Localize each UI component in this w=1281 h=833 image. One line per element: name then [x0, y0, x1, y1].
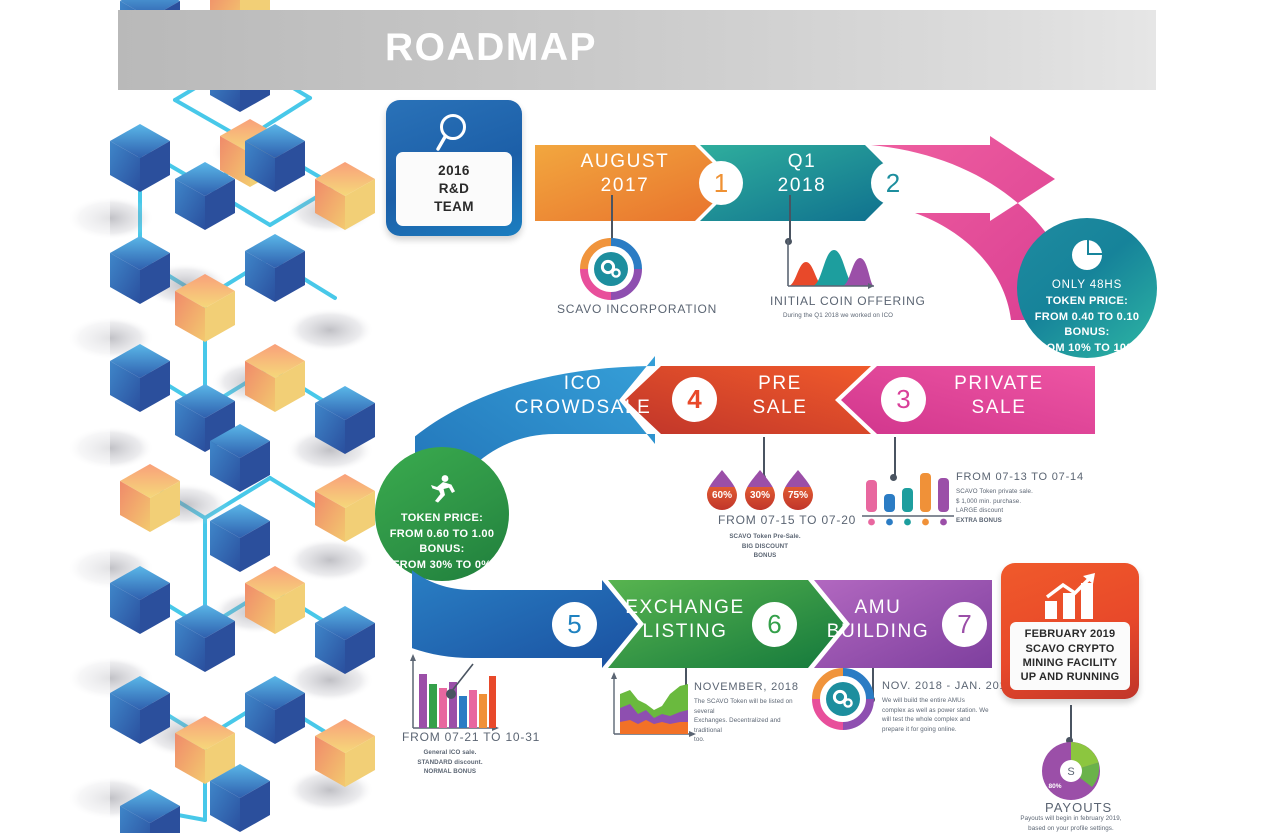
teal-badge-line3: BONUS: [1064, 325, 1109, 341]
teal-badge-line1: TOKEN PRICE: [1046, 294, 1128, 310]
green-badge-line2: FROM 0.60 TO 1.00 [390, 527, 495, 543]
payouts-connector [1070, 705, 1072, 741]
end-card-line4: UP AND RUNNING [1021, 670, 1120, 684]
green-badge-line1: TOKEN PRICE: [401, 511, 483, 527]
step-6-node-desc: The SCAVO Token will be listed on severa… [694, 697, 806, 745]
step-3-title: PRIVATESALE [929, 372, 1069, 420]
step-4-node-title: FROM 07-15 TO 07-20 [718, 513, 856, 527]
stacked-area-chart-icon [608, 670, 700, 742]
column-chart-icon [405, 650, 505, 740]
pie-chart-icon [1070, 238, 1104, 272]
step-4-node-desc: SCAVO Token Pre-Sale. BIG DISCOUNT BONUS [700, 532, 830, 561]
header-band [118, 10, 1156, 90]
step-5-badge: 5 [552, 602, 597, 647]
end-card-line1: FEBRUARY 2019 [1025, 627, 1116, 641]
step-2-badge: 2 [871, 161, 915, 205]
discount-drops-icon: 60% 30% 75% [705, 468, 815, 512]
teal-badge-line2: FROM 0.40 TO 0.10 [1035, 310, 1140, 326]
donut-center-letter: S [1067, 766, 1074, 778]
step-6-title: EXCHANGELISTING [610, 596, 760, 644]
distribution-curves-chart-icon [786, 238, 876, 290]
step-5-node-desc: General ICO sale. STANDARD discount. NOR… [396, 748, 504, 777]
step-7-node-title: NOV. 2018 - JAN. 2019 [882, 680, 1013, 692]
step-4-title: PRESALE [720, 372, 840, 420]
step-3-node-title: FROM 07-13 TO 07-14 [956, 471, 1084, 483]
magnifier-icon [434, 111, 476, 153]
green-badge-line3: BONUS: [419, 542, 464, 558]
step-6-badge: 6 [752, 602, 797, 647]
gears-circle-icon [580, 238, 642, 300]
svg-text:60%: 60% [712, 490, 732, 501]
step-7-badge: 7 [942, 602, 987, 647]
step-5-ico-title: ICOCROWDSALE [493, 372, 673, 420]
step-2-connector [789, 195, 791, 243]
end-card-line2: SCAVO CRYPTO [1026, 642, 1115, 656]
roadmap-infographic: ROADMAP 2016 R&D TEAM [0, 0, 1281, 833]
end-milestone-card: FEBRUARY 2019 SCAVO CRYPTO MINING FACILI… [1001, 563, 1139, 699]
running-man-icon [427, 473, 457, 503]
donut-chart-icon: S 80% [1040, 740, 1102, 802]
start-card-inner: 2016 R&D TEAM [396, 152, 512, 226]
step-7-title: AMUBUILDING [808, 596, 948, 644]
payouts-title: PAYOUTS [1045, 800, 1112, 815]
step-2-node-title: INITIAL COIN OFFERING [770, 294, 926, 308]
teal-badge-headline: ONLY 48HS [1052, 279, 1122, 291]
start-card-line2: R&D [439, 180, 469, 198]
step-2-title: Q12018 [737, 150, 867, 198]
step-2-node-desc: During the Q1 2018 we worked on ICO [770, 311, 906, 321]
step-4-badge: 4 [672, 377, 717, 422]
step-1-node-title: SCAVO INCORPORATION [557, 302, 717, 316]
bar-chart-growth-icon [1039, 571, 1101, 621]
payouts-desc: Payouts will begin in february 2019, bas… [1006, 814, 1136, 833]
start-card-line3: TEAM [434, 198, 474, 216]
donut-percent-label: 80% [1048, 783, 1061, 790]
end-card-line3: MINING FACILITY [1023, 656, 1118, 670]
step-3-badge: 3 [881, 377, 926, 422]
gears-circle-icon [812, 668, 874, 730]
teal-token-price-badge: ONLY 48HS TOKEN PRICE: FROM 0.40 TO 0.10… [1017, 218, 1157, 358]
svg-text:30%: 30% [750, 490, 770, 501]
step-5-node-title: FROM 07-21 TO 10-31 [402, 730, 540, 744]
step-3-node-desc: SCAVO Token private sale. $ 1,000 min. p… [956, 487, 1106, 525]
step-6-node-title: NOVEMBER, 2018 [694, 681, 799, 693]
start-milestone-card: 2016 R&D TEAM [386, 100, 522, 236]
step-7-node-desc: We will build the entire AMUs complex as… [882, 696, 992, 734]
step-1-title: AUGUST2017 [555, 150, 695, 198]
step-1-connector [611, 195, 613, 243]
start-card-line1: 2016 [438, 162, 470, 180]
page-title: ROADMAP [385, 26, 597, 70]
end-card-inner: FEBRUARY 2019 SCAVO CRYPTO MINING FACILI… [1010, 622, 1130, 690]
blockchain-cubes-decoration [0, 0, 430, 833]
bar-chart-icon [860, 468, 956, 526]
svg-text:75%: 75% [788, 490, 808, 501]
